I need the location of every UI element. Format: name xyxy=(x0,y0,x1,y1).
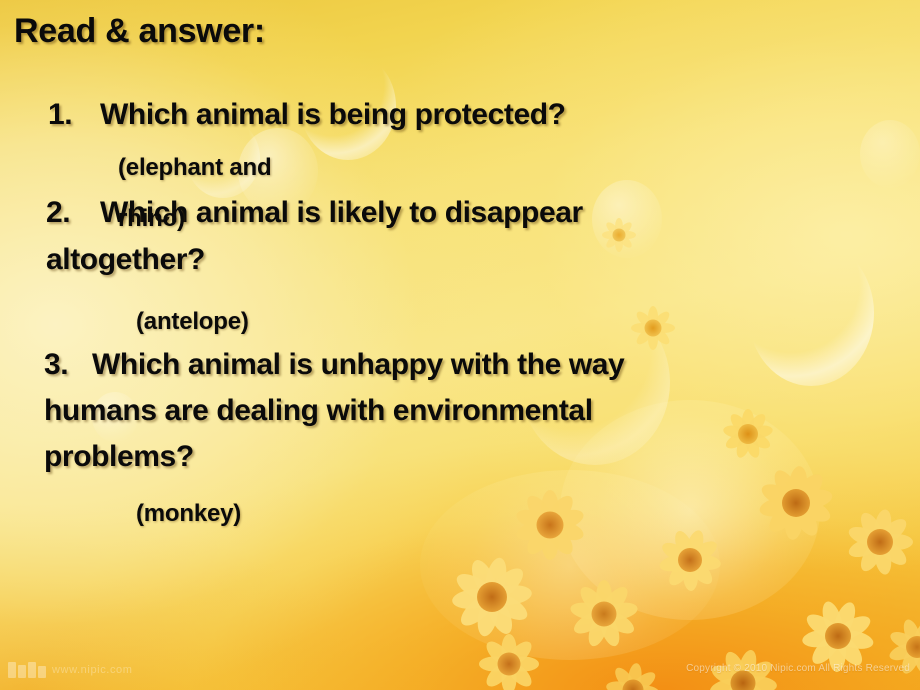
bubble-decoration xyxy=(420,470,720,660)
answer-2-line-1: (antelope) xyxy=(136,308,249,336)
watermark-left: www.nipic.com xyxy=(8,661,133,678)
question-3-line-3: problems? xyxy=(44,440,194,474)
question-2-number: 2. xyxy=(46,196,70,230)
flower-decoration xyxy=(598,214,640,256)
flower-decoration xyxy=(650,520,730,600)
bubble-decoration xyxy=(860,120,920,188)
flower-decoration xyxy=(748,455,844,551)
question-3-line-2: humans are dealing with environmental xyxy=(44,394,593,428)
watermark-left-text: www.nipic.com xyxy=(52,664,133,676)
watermark-copyright: Copyright © 2010 Nipic.com All Rights Re… xyxy=(686,663,910,674)
bubble-decoration xyxy=(748,240,874,386)
flower-decoration xyxy=(598,655,668,690)
answer-1-line-2: rhino) xyxy=(118,205,185,233)
question-2-line-2: altogether? xyxy=(46,243,205,277)
slide-canvas: Read & answer: 1. Which animal is being … xyxy=(0,0,920,690)
flower-decoration xyxy=(505,480,595,570)
flower-decoration xyxy=(560,570,648,658)
flower-decoration xyxy=(470,625,548,690)
flower-decoration xyxy=(440,545,544,649)
question-1-line-1: Which animal is being protected? xyxy=(100,98,566,132)
answer-3-line-1: (monkey) xyxy=(136,500,241,528)
bubble-decoration xyxy=(592,180,662,258)
flower-decoration xyxy=(838,500,920,584)
bubble-decoration xyxy=(560,400,820,620)
answer-1-line-1: (elephant and xyxy=(118,154,271,182)
question-3-line-1: Which animal is unhappy with the way xyxy=(92,348,624,382)
slide-title: Read & answer: xyxy=(14,12,265,51)
question-3-number: 3. xyxy=(44,348,68,382)
flower-decoration xyxy=(716,402,780,466)
bubble-decoration xyxy=(520,300,670,465)
question-1-number: 1. xyxy=(48,98,72,132)
flower-decoration xyxy=(625,300,681,356)
nipic-logo-icon xyxy=(8,661,46,678)
